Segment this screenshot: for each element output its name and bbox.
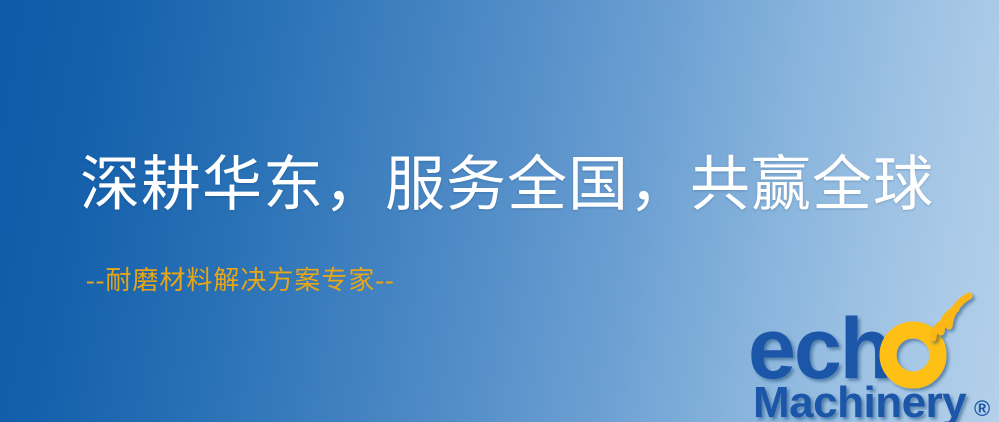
logo-text-machinery: Machinery [753, 378, 967, 422]
company-logo[interactable]: ech Machinery ® [750, 292, 999, 422]
banner-subtitle: --耐磨材料解决方案专家-- [86, 265, 395, 296]
logo-svg: ech Machinery ® [750, 292, 999, 422]
hero-banner: 深耕华东，服务全国，共赢全球 --耐磨材料解决方案专家-- ech Mac [0, 0, 999, 422]
registered-trademark-icon: ® [974, 396, 990, 421]
banner-headline: 深耕华东，服务全国，共赢全球 [80, 152, 934, 219]
signal-waves-icon [933, 296, 969, 338]
